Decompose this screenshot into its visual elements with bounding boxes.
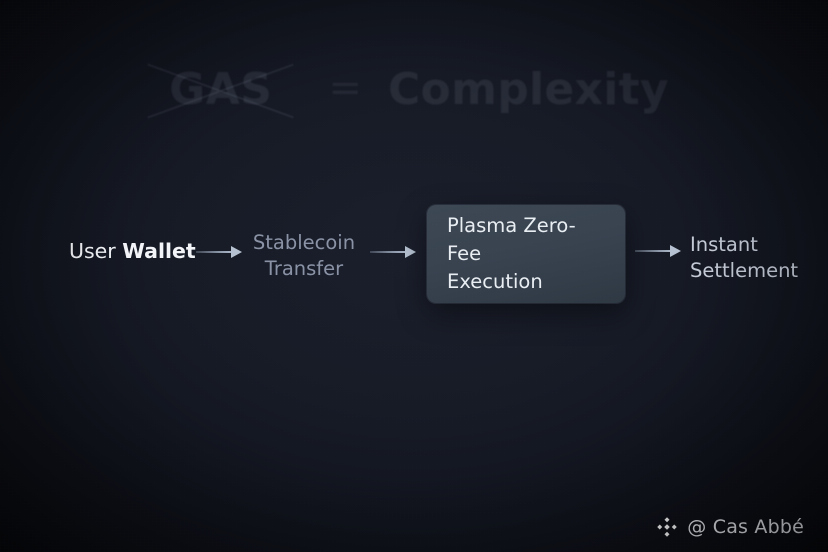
crossed-out-gas-label: GAS xyxy=(139,58,302,121)
slide-canvas: GAS = Complexity User Wallet Stablecoin … xyxy=(0,0,828,552)
flow-node-user-wallet-label-part2: Wallet xyxy=(122,239,195,263)
arrow-head xyxy=(231,246,242,258)
arrow-right-icon xyxy=(196,245,242,259)
strikethrough-slash-icon xyxy=(147,63,294,118)
flow-node-user-wallet: User Wallet xyxy=(69,238,196,265)
flow-node-user-wallet-label-part1: User xyxy=(69,239,122,263)
watermark: @ Cas Abbé xyxy=(656,516,804,538)
flow-node-stablecoin-transfer-line1: Stablecoin xyxy=(244,230,364,256)
arrow-right-icon xyxy=(635,244,681,258)
binance-diamond-logo-icon xyxy=(656,516,678,538)
flow-node-plasma-line1: Plasma Zero-Fee xyxy=(447,212,605,269)
arrow-right-icon xyxy=(370,245,416,259)
flow-diagram: User Wallet Stablecoin Transfer Plasma Z… xyxy=(0,198,828,310)
flow-node-stablecoin-transfer-line2: Transfer xyxy=(244,256,364,282)
flow-node-stablecoin-transfer: Stablecoin Transfer xyxy=(244,230,364,281)
gas-word: GAS xyxy=(169,64,272,115)
arrow-shaft xyxy=(370,251,406,253)
watermark-handle: @ Cas Abbé xyxy=(687,516,804,538)
arrow-shaft xyxy=(635,250,671,252)
complexity-word: Complexity xyxy=(388,64,669,115)
arrow-head xyxy=(405,246,416,258)
flow-node-instant-settlement-line1: Instant xyxy=(690,232,798,258)
strikethrough-slash-icon xyxy=(147,63,294,118)
flow-node-instant-settlement-line2: Settlement xyxy=(690,258,798,284)
ghost-headline: GAS = Complexity xyxy=(0,58,828,121)
equals-sign: = xyxy=(328,65,362,111)
flow-node-plasma-zero-fee-execution: Plasma Zero-Fee Execution xyxy=(427,205,625,303)
flow-node-instant-settlement: Instant Settlement xyxy=(690,232,798,283)
arrow-shaft xyxy=(196,251,232,253)
arrow-head xyxy=(670,245,681,257)
flow-node-plasma-line2: Execution xyxy=(447,268,605,296)
